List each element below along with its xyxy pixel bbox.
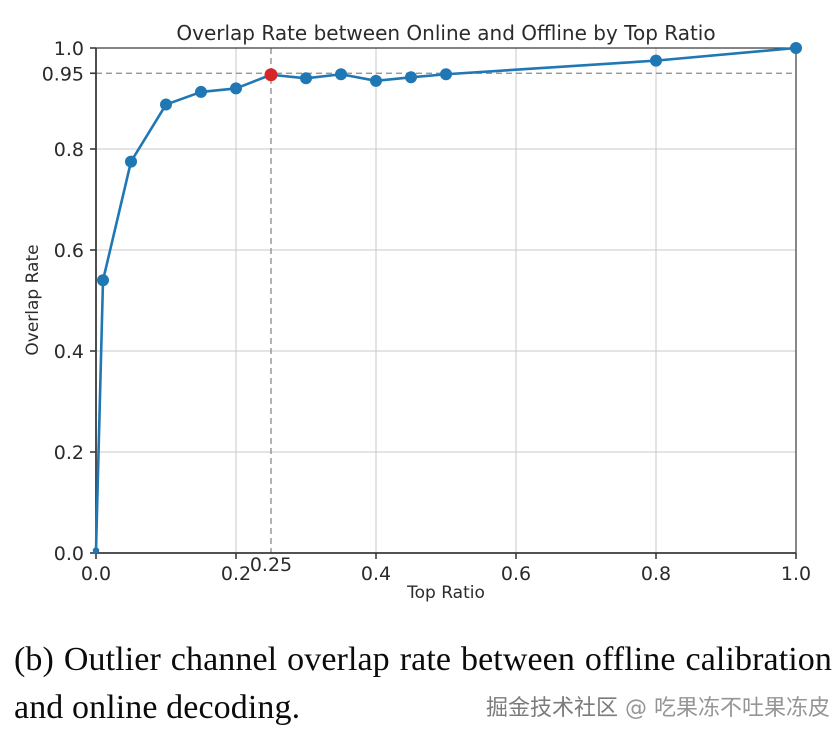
data-point-marker [790,42,802,54]
x-axis-label: Top Ratio [406,583,485,603]
x-tick-label: 0.2 [221,563,251,585]
x-tick-label: 0.4 [361,563,391,585]
x-tick-label: 0.6 [501,563,531,585]
x-tick-label: 0.0 [81,563,111,585]
x-tick-label-highlight: 0.25 [250,554,292,576]
plot-area-background [96,48,796,553]
data-point-marker [93,547,99,553]
highlight-point-marker [265,68,278,81]
y-tick-label: 0.4 [54,341,84,363]
x-tick-label: 0.8 [641,563,671,585]
y-axis-label: Overlap Rate [23,244,43,355]
data-point-marker [230,82,242,94]
data-point-marker [440,68,452,80]
watermark-author: @ 吃果冻不吐果冻皮 [625,696,830,721]
y-tick-label: 1.0 [54,38,84,60]
watermark-site: 掘金技术社区 [486,696,618,721]
data-point-marker [335,68,347,80]
y-tick-label: 0.2 [54,442,84,464]
data-point-marker [195,86,207,98]
watermark: 掘金技术社区 @ 吃果冻不吐果冻皮 [486,690,830,722]
y-tick-label: 0.95 [42,63,84,85]
x-tick-label: 1.0 [781,563,811,585]
chart-title: Overlap Rate between Online and Offline … [176,21,715,45]
figure-panel: 0.00.20.40.60.81.00.250.00.20.40.60.80.9… [0,0,840,630]
data-point-marker [300,72,312,84]
data-point-marker [160,99,172,111]
data-point-marker [125,156,137,168]
y-tick-label: 0.8 [54,139,84,161]
data-point-marker [405,71,417,83]
data-point-marker [97,274,109,286]
data-point-marker [370,75,382,87]
y-tick-label: 0.0 [54,543,84,565]
y-tick-label: 0.6 [54,240,84,262]
overlap-rate-chart: 0.00.20.40.60.81.00.250.00.20.40.60.80.9… [0,0,840,630]
data-point-marker [650,55,662,67]
